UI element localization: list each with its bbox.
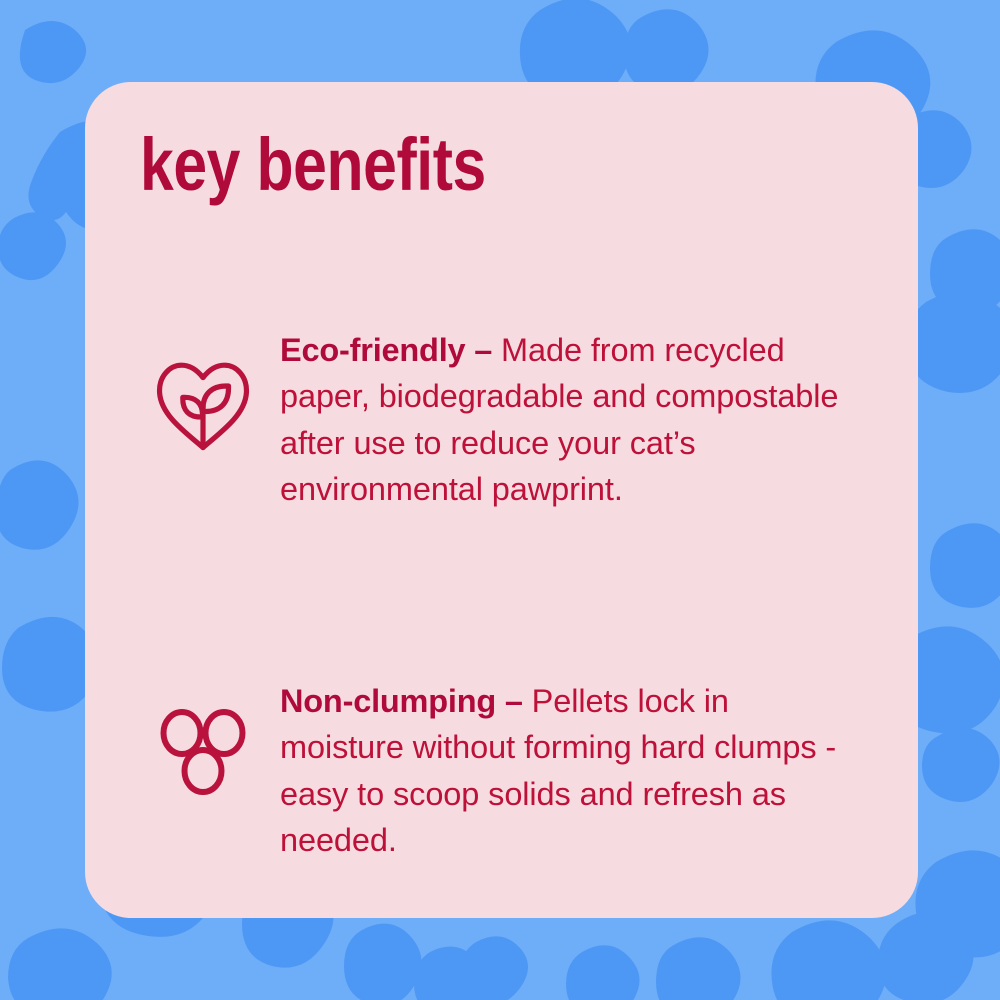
key-benefits-card: key benefits Eco-friendly – Made f [85,82,918,918]
benefit-icon-wrapper [125,292,280,483]
benefit-description: Non-clumping – Pellets lock in moisture … [280,676,840,864]
benefit-description: Eco-friendly – Made from recycled paper,… [280,325,840,513]
page-title: key benefits [140,130,486,200]
benefit-term: Eco-friendly – [280,332,492,368]
benefits-list: Eco-friendly – Made from recycled paper,… [85,292,918,896]
list-item: Non-clumping – Pellets lock in moisture … [85,643,918,896]
benefit-term: Non-clumping – [280,683,523,719]
poster-canvas: key benefits Eco-friendly – Made f [0,0,1000,1000]
heart-sprout-icon [155,360,251,452]
three-pellets-icon [157,705,249,797]
benefit-icon-wrapper [125,643,280,828]
list-item: Eco-friendly – Made from recycled paper,… [85,292,918,545]
